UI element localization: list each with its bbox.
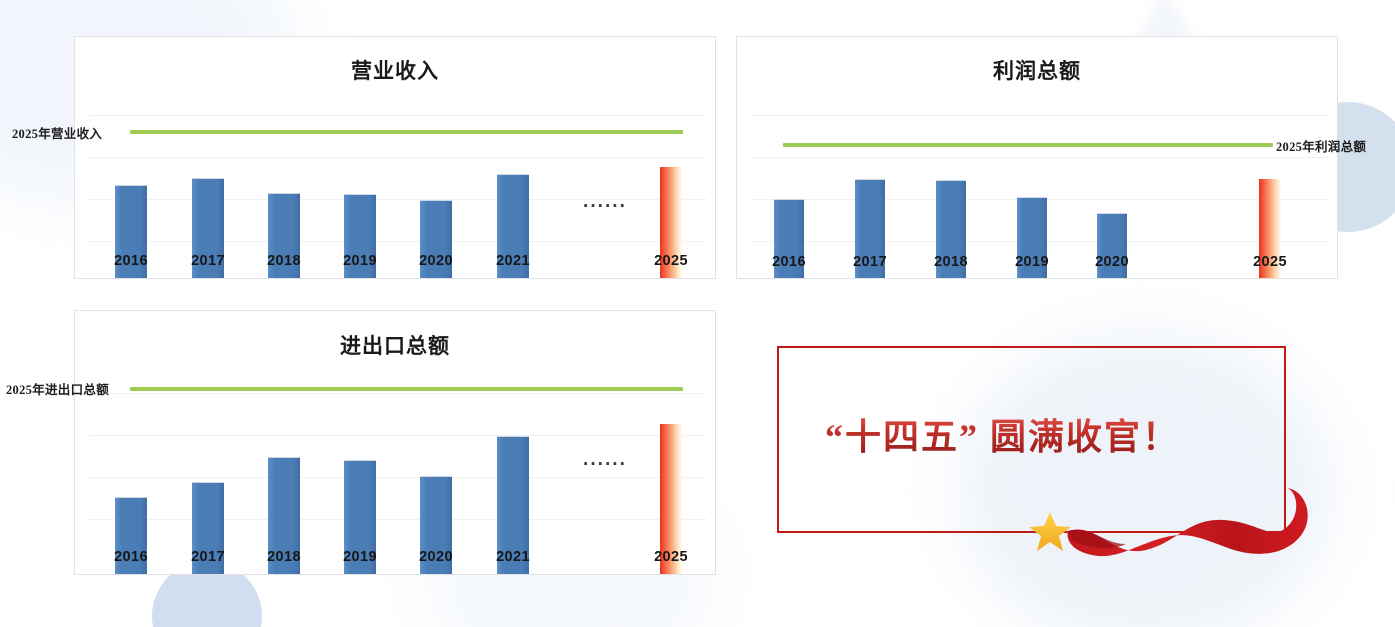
plot-area-profit	[737, 91, 1337, 278]
axis-tick-2017: 2017	[178, 253, 238, 269]
axis-tick-2016: 2016	[101, 253, 161, 269]
axis-tick-2016: 2016	[101, 549, 161, 565]
axis-tick-2019: 2019	[330, 549, 390, 565]
slogan-text: “十四五” 圆满收官！	[825, 408, 1180, 460]
chart-title-trade: 进出口总额	[75, 311, 715, 360]
target-line-trade	[130, 387, 683, 391]
axis-tick-2025: 2025	[641, 253, 701, 269]
axis-tick-2019: 2019	[330, 253, 390, 269]
plot-area-revenue	[75, 91, 715, 278]
axis-tick-2019: 2019	[1002, 254, 1062, 270]
axis-labels-profit: 201620172018201920202025	[737, 254, 1337, 280]
chart-panel-profit: 利润总额 201620172018201920202025	[736, 36, 1338, 279]
target-line-revenue	[130, 130, 683, 134]
target-line-profit	[783, 143, 1273, 147]
chart-panel-revenue: 营业收入 2016201720182019202020212025	[74, 36, 716, 279]
axis-tick-2016: 2016	[759, 254, 819, 270]
target-label-revenue: 2025年营业收入	[12, 123, 102, 142]
target-label-trade: 2025年进出口总额	[6, 379, 109, 398]
chart-panel-trade: 进出口总额 2016201720182019202020212025	[74, 310, 716, 575]
ellipsis-revenue: ······	[583, 196, 627, 218]
axis-tick-2018: 2018	[254, 253, 314, 269]
bars-revenue	[75, 91, 715, 278]
chart-title-revenue: 营业收入	[75, 37, 715, 85]
axis-labels-trade: 2016201720182019202020212025	[75, 549, 715, 575]
axis-tick-2017: 2017	[178, 549, 238, 565]
axis-tick-2021: 2021	[483, 253, 543, 269]
axis-tick-2018: 2018	[921, 254, 981, 270]
axis-tick-2020: 2020	[1082, 254, 1142, 270]
axis-tick-2018: 2018	[254, 549, 314, 565]
axis-tick-2025: 2025	[641, 549, 701, 565]
star-icon	[1029, 512, 1071, 551]
axis-tick-2017: 2017	[840, 254, 900, 270]
axis-tick-2021: 2021	[483, 549, 543, 565]
axis-labels-revenue: 2016201720182019202020212025	[75, 253, 715, 279]
axis-tick-2025: 2025	[1240, 254, 1300, 270]
ribbon-icon	[1020, 482, 1320, 564]
axis-tick-2020: 2020	[406, 253, 466, 269]
axis-tick-2020: 2020	[406, 549, 466, 565]
bars-profit	[737, 91, 1337, 278]
ellipsis-trade: ······	[583, 454, 627, 476]
target-label-profit: 2025年利润总额	[1276, 136, 1366, 155]
ribbon-decoration	[1020, 482, 1320, 564]
chart-title-profit: 利润总额	[737, 37, 1337, 85]
